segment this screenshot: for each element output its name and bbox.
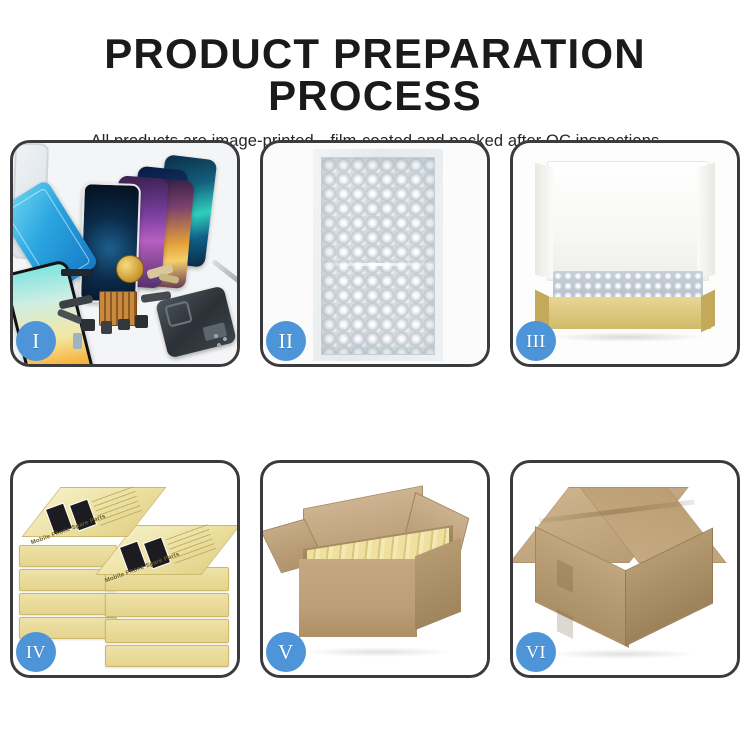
bubble-wrap-bubbles xyxy=(321,157,435,355)
repair-tool xyxy=(212,259,237,288)
inner-box-lid xyxy=(547,161,709,281)
page-title: PRODUCT PREPARATION PROCESS xyxy=(0,0,750,117)
step-badge-4: IV xyxy=(16,632,56,672)
carton-shadow xyxy=(303,647,453,657)
step-badge-6: VI xyxy=(516,632,556,672)
small-component-4 xyxy=(135,315,148,328)
earpiece-speaker-part xyxy=(61,269,91,276)
retail-box-slab-1 xyxy=(19,545,117,567)
retail-box-slab-6 xyxy=(105,593,229,617)
retail-box-slab-3 xyxy=(19,593,117,615)
step-panel-1: I xyxy=(10,140,240,367)
header: PRODUCT PREPARATION PROCESS All products… xyxy=(0,0,750,150)
inner-box-right-corner xyxy=(701,290,715,333)
inner-box-lid-left-flap xyxy=(535,163,553,279)
step-panel-5: V xyxy=(260,460,490,678)
step-badge-5: V xyxy=(266,632,306,672)
small-component-1 xyxy=(81,319,95,331)
product-preparation-infographic: PRODUCT PREPARATION PROCESS All products… xyxy=(0,0,750,750)
inner-box-lid-right-flap xyxy=(697,163,715,279)
step-panel-6: VI xyxy=(510,460,740,678)
screws-group xyxy=(213,333,235,349)
retail-box-slab-7 xyxy=(105,619,229,643)
inner-box-shadow xyxy=(547,332,707,342)
carton-front-panel xyxy=(299,559,417,637)
retail-box-stack: Mobile Phone Spare Parts Mobile Phone Sp… xyxy=(19,481,231,661)
wireless-charging-coil-part xyxy=(116,255,144,283)
small-component-2 xyxy=(101,321,112,334)
step-badge-3: III xyxy=(516,321,556,361)
process-steps-grid: I II III xyxy=(10,140,740,740)
step-panel-3: III xyxy=(510,140,740,367)
small-component-3 xyxy=(118,319,130,330)
step-panel-4: Mobile Phone Spare Parts Mobile Phone Sp… xyxy=(10,460,240,678)
inner-box-front-panel xyxy=(543,297,711,329)
retail-box-slab-8 xyxy=(105,645,229,667)
sim-tray-part xyxy=(73,333,82,349)
phone-screen-dark xyxy=(79,182,141,304)
step-panel-2: II xyxy=(260,140,490,367)
step-badge-2: II xyxy=(266,321,306,361)
sealed-carton-shadow xyxy=(547,649,697,659)
step-badge-1: I xyxy=(16,321,56,361)
bubble-wrap-seam xyxy=(321,263,433,266)
